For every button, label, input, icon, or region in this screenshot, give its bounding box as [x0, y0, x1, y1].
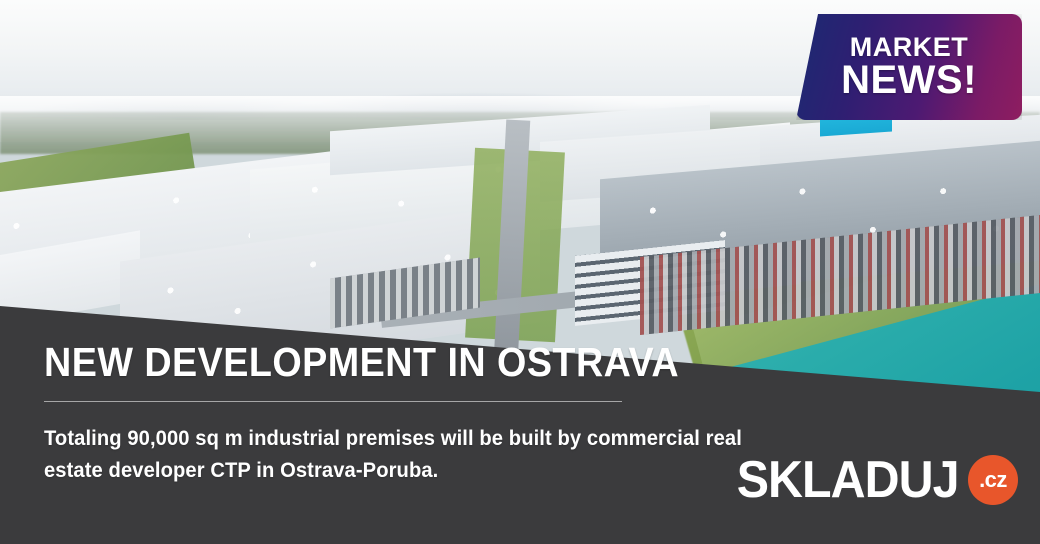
skladuj-logo[interactable]: SKLADUJ .cz — [720, 454, 1018, 506]
market-news-badge: MARKET NEWS! — [796, 14, 1022, 120]
badge-line-news: NEWS! — [841, 60, 977, 101]
logo-tld-badge: .cz — [968, 455, 1018, 505]
market-news-banner: MARKET NEWS! NEW DEVELOPMENT IN OSTRAVA … — [0, 0, 1040, 544]
content-block: NEW DEVELOPMENT IN OSTRAVA Totaling 90,0… — [44, 339, 804, 544]
body-paragraph: Totaling 90,000 sq m industrial premises… — [44, 423, 745, 487]
page-title: NEW DEVELOPMENT IN OSTRAVA — [44, 339, 679, 386]
title-divider — [44, 401, 622, 402]
logo-wordmark: SKLADUJ — [737, 454, 959, 506]
